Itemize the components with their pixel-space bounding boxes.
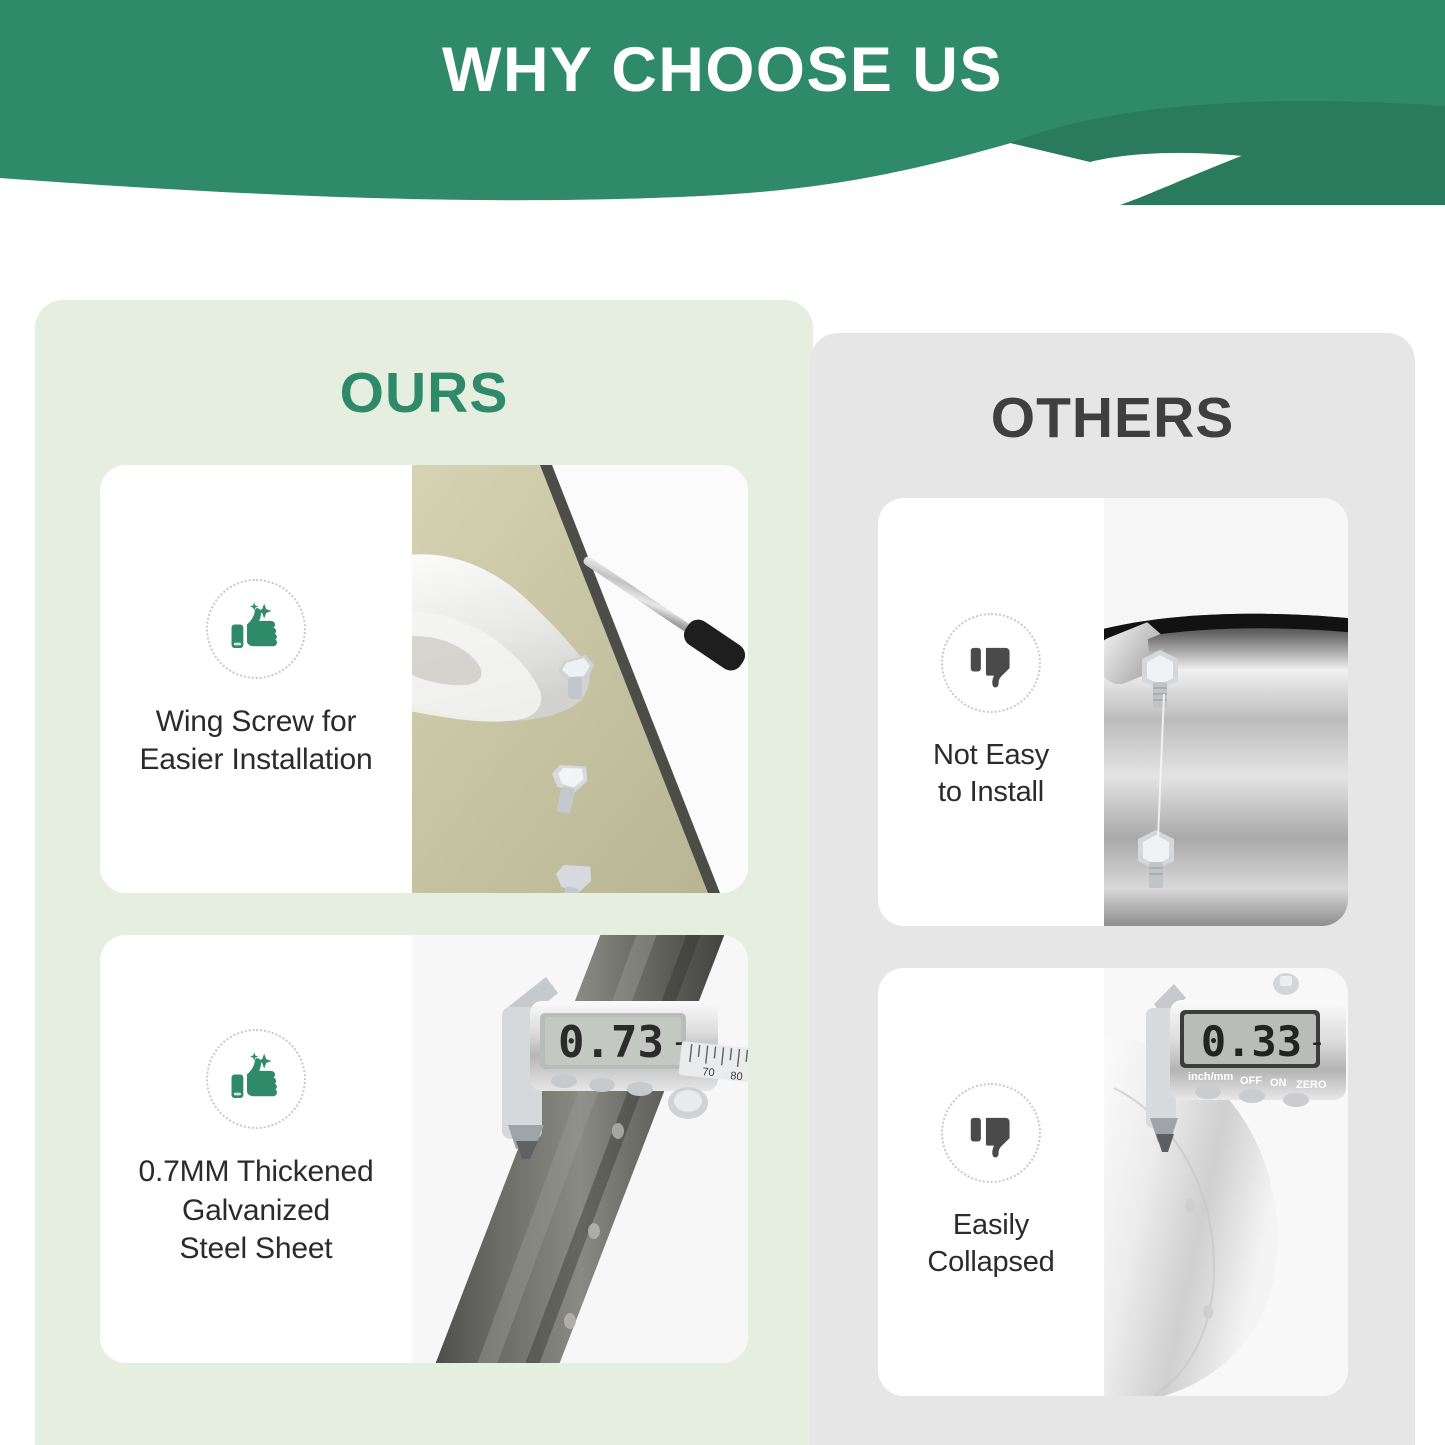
thumbs-down-icon [964,1106,1018,1160]
panel-others: OTHERS Not Easy to Install [810,333,1415,1445]
page-title: WHY CHOOSE US [0,34,1445,106]
card-text-block: Easily Collapsed [878,968,1104,1396]
photo-wrench-hex-nuts [1104,498,1348,926]
card-ours-wing-screw[interactable]: Wing Screw for Easier Installation [100,465,748,893]
card-others-easily-collapsed[interactable]: Easily Collapsed [878,968,1348,1396]
card-others-not-easy-install[interactable]: Not Easy to Install [878,498,1348,926]
svg-text:80: 80 [730,1070,743,1083]
thumbs-up-badge [206,579,306,679]
photo-caliper-measuring-others: 0.33 - inch/mm OFF ON ZERO [1104,968,1348,1396]
heading-ours: OURS [35,360,813,426]
card-text-block: Wing Screw for Easier Installation [100,465,412,893]
thumbs-down-icon [964,636,1018,690]
photo-content [412,465,748,893]
caliper-reading: 0.73 [558,1017,664,1068]
card-label: Not Easy to Install [933,737,1049,811]
thumbs-down-badge [941,1083,1041,1183]
thumbs-up-icon [227,1050,285,1108]
why-choose-us-infographic: WHY CHOOSE US OURS Wing Screw for Easier… [0,0,1445,1445]
card-label: 0.7MM Thickened Galvanized Steel Sheet [139,1153,374,1268]
card-label: Easily Collapsed [927,1207,1054,1281]
card-text-block: Not Easy to Install [878,498,1104,926]
card-text-block: 0.7MM Thickened Galvanized Steel Sheet [100,935,412,1363]
card-label: Wing Screw for Easier Installation [140,703,373,780]
svg-text:-: - [1308,1025,1326,1060]
heading-others: OTHERS [810,385,1415,451]
photo-content: 0.33 - inch/mm OFF ON ZERO [1104,968,1348,1396]
caliper-button-label-off: OFF [1240,1075,1262,1087]
card-ours-steel-thickness[interactable]: 0.7MM Thickened Galvanized Steel Sheet [100,935,748,1363]
panel-ours: OURS Wing Screw for Easier Installation [35,300,813,1445]
caliper-button-label-inchmm: inch/mm [1188,1071,1233,1083]
photo-content [1104,498,1348,926]
photo-content: 0.73 - 70 80 [412,935,748,1363]
caliper-reading: 0.33 [1201,1017,1302,1066]
svg-text:70: 70 [702,1066,715,1079]
thumbs-down-badge [941,613,1041,713]
caliper-button-label-on: ON [1270,1077,1287,1089]
thumbs-up-badge [206,1029,306,1129]
thumbs-up-icon [227,600,285,658]
photo-wing-screw-install [412,465,748,893]
caliper-button-label-zero: ZERO [1296,1079,1327,1091]
photo-caliper-measuring-ours: 0.73 - 70 80 [412,935,748,1363]
header-banner: WHY CHOOSE US [0,0,1445,205]
